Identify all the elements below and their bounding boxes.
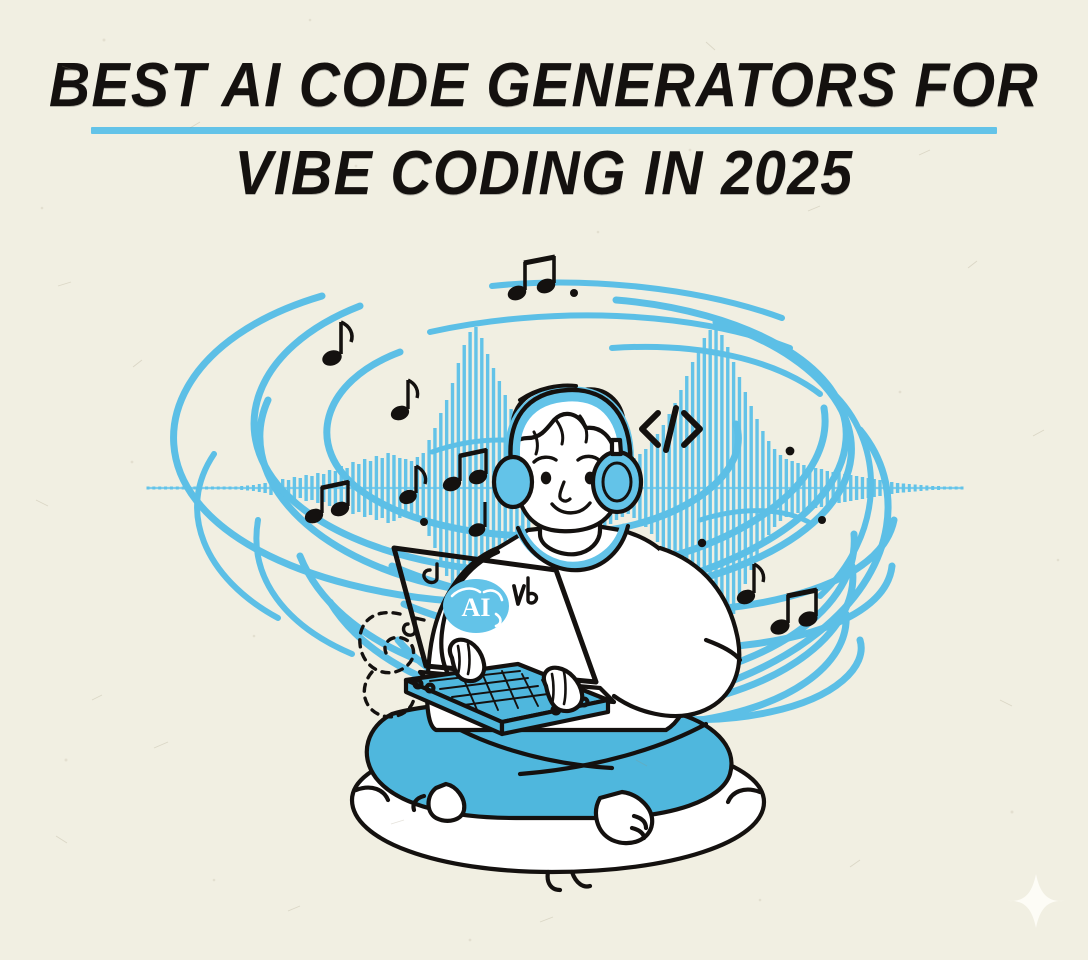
- page-title-line-2: VIBE CODING IN 2025: [44, 140, 1045, 208]
- four-point-star-icon: [1008, 874, 1064, 928]
- poster-canvas: AI: [0, 0, 1088, 960]
- poster-title-block: BEST AI CODE GENERATORS FOR VIBE CODING …: [0, 52, 1088, 208]
- title-underline-rule: [91, 127, 997, 134]
- page-title-line-1: BEST AI CODE GENERATORS FOR: [44, 52, 1045, 120]
